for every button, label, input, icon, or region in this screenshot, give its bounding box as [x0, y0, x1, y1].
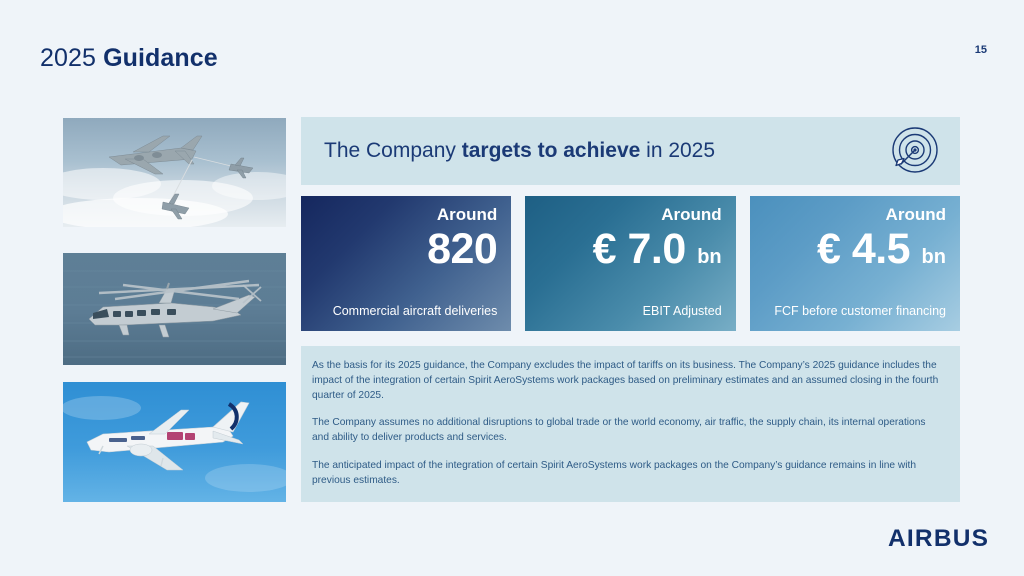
kpi-value-unit: bn — [922, 246, 946, 268]
targets-banner-title: The Company targets to achieve in 2025 — [324, 139, 715, 163]
a321xlr-airliner-illustration — [63, 382, 286, 502]
a321xlr-airliner-photo — [63, 382, 286, 502]
kpi-value-number: € 7.0 — [593, 225, 686, 273]
target-dart-icon-svg — [888, 125, 940, 177]
airbus-logo: AIRBUS — [888, 525, 989, 553]
notes-paragraph: The Company assumes no additional disrup… — [312, 416, 942, 446]
kpi-value-unit: bn — [697, 246, 721, 268]
kpi-around-label: Around — [437, 206, 497, 225]
kpi-around-label: Around — [886, 206, 946, 225]
h225m-helicopter-photo — [63, 253, 286, 365]
page-title-word: Guidance — [103, 44, 218, 72]
targets-banner: The Company targets to achieve in 2025 — [301, 117, 960, 185]
kpi-value: 820 — [427, 227, 497, 272]
kpi-card-deliveries: Around 820 Commercial aircraft deliverie… — [301, 196, 511, 331]
kpi-value-number: 820 — [427, 225, 497, 273]
kpi-value-number: € 4.5 — [817, 225, 910, 273]
banner-text-prefix: The Company — [324, 139, 462, 162]
kpi-description: EBIT Adjusted — [643, 303, 722, 319]
page-number: 15 — [975, 44, 987, 56]
page-title: 2025 Guidance — [40, 44, 218, 73]
notes-paragraph: The anticipated impact of the integratio… — [312, 459, 942, 489]
h225m-helicopter-illustration — [63, 253, 286, 365]
kpi-value: € 4.5 bn — [817, 227, 946, 272]
notes-paragraph: As the basis for its 2025 guidance, the … — [312, 359, 942, 403]
banner-text-suffix: in 2025 — [640, 139, 715, 162]
kpi-card-fcf: Around € 4.5 bn FCF before customer fina… — [750, 196, 960, 331]
a330-mrtt-refuelling-photo — [63, 118, 286, 227]
target-dart-icon — [888, 125, 940, 177]
kpi-description: Commercial aircraft deliveries — [333, 303, 498, 319]
kpi-card-row: Around 820 Commercial aircraft deliverie… — [301, 196, 960, 331]
page-title-year: 2025 — [40, 44, 96, 72]
kpi-value: € 7.0 bn — [593, 227, 722, 272]
kpi-description: FCF before customer financing — [774, 303, 946, 319]
kpi-card-ebit: Around € 7.0 bn EBIT Adjusted — [525, 196, 735, 331]
kpi-around-label: Around — [661, 206, 721, 225]
banner-text-emphasis: targets to achieve — [462, 139, 641, 162]
a330-mrtt-refuelling-illustration — [63, 118, 286, 227]
guidance-notes-box: As the basis for its 2025 guidance, the … — [301, 346, 960, 502]
